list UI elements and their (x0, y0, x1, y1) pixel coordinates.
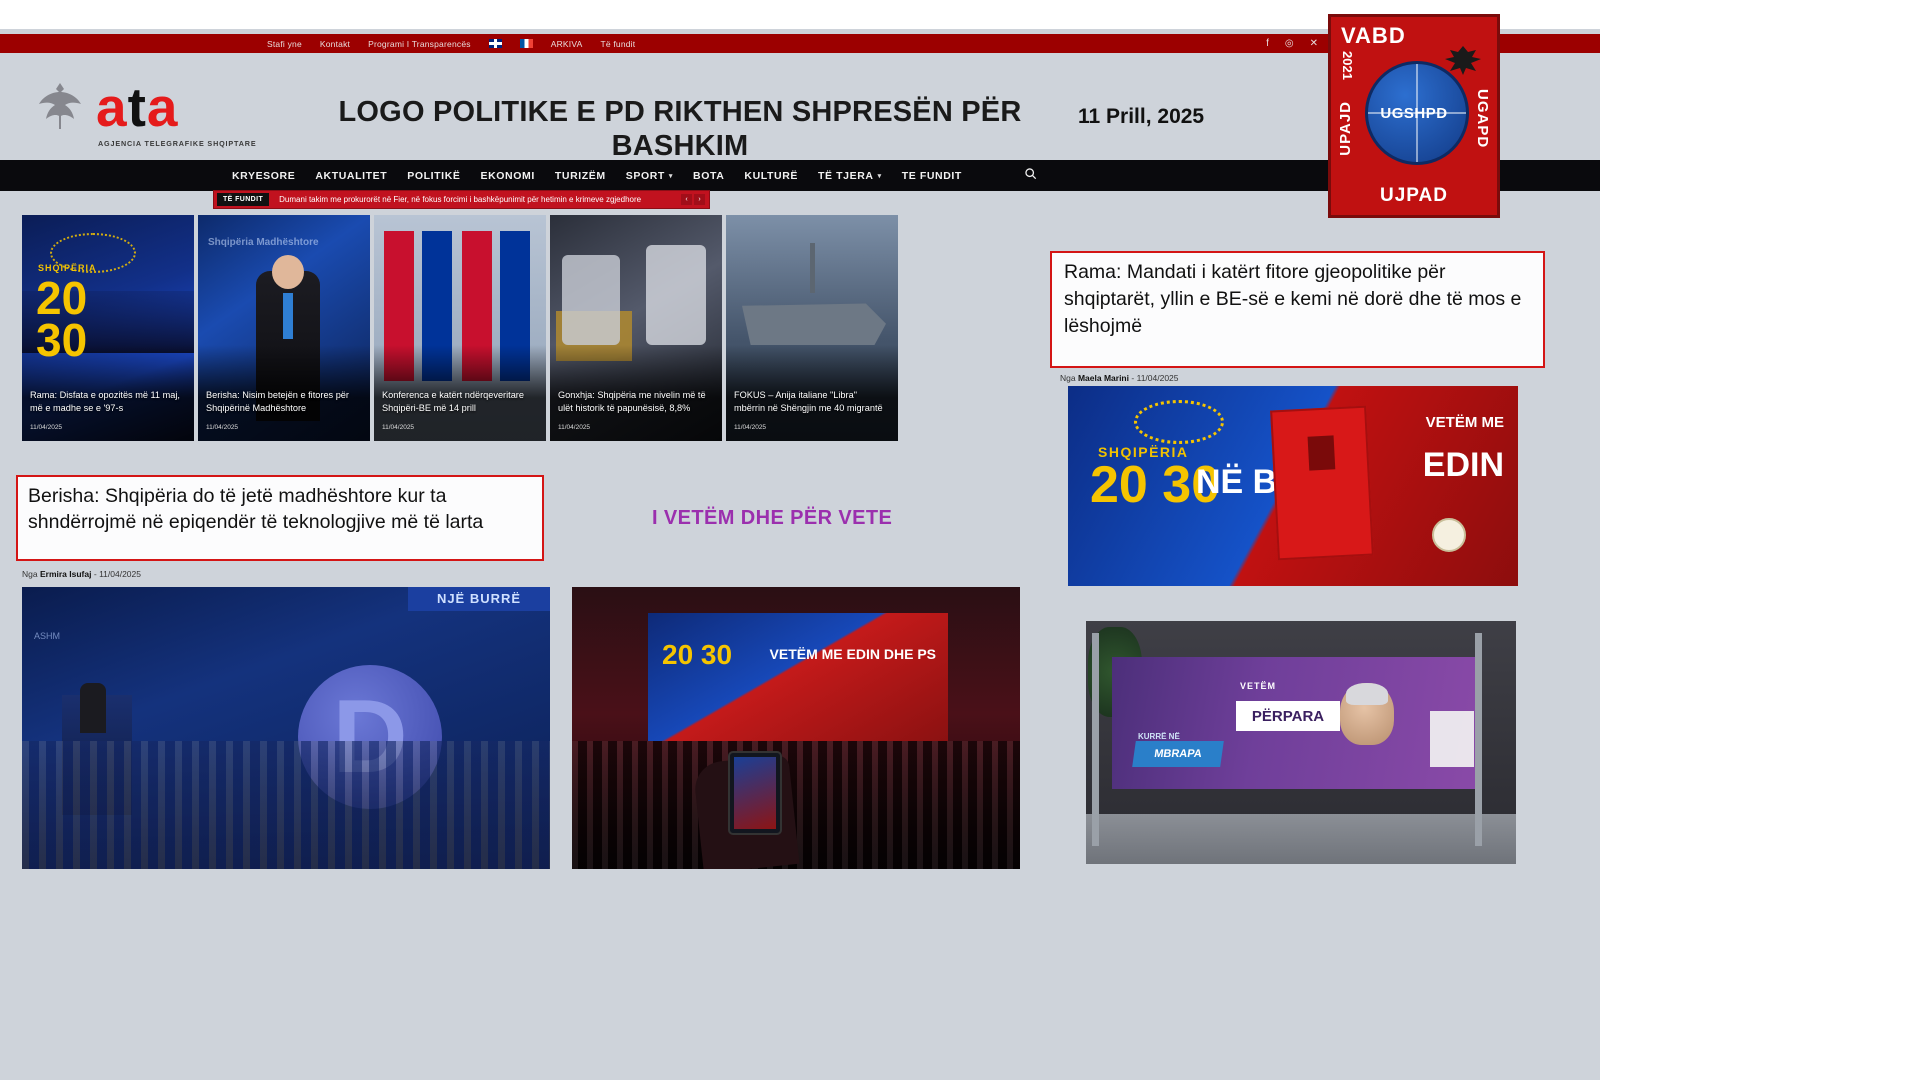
nav-item-te-fundit[interactable]: TE FUNDIT (902, 170, 962, 182)
nav-label: TE FUNDIT (902, 170, 962, 182)
nav-label: SPORT (626, 170, 665, 182)
vabd-year: 2021 (1340, 51, 1355, 80)
thumbnail-card[interactable]: Shqipëria Madhështore Berisha: Nisim bet… (198, 215, 370, 441)
nav-items: KRYESORE AKTUALITET POLITIKË EKONOMI TUR… (232, 167, 1037, 185)
vabd-center-text: UGSHPD (1331, 105, 1497, 122)
logo-letter-t: t (128, 76, 147, 138)
byline-author[interactable]: Ermira Isufaj (40, 569, 92, 579)
billboard-back-small: KURRË NË (1138, 732, 1180, 741)
ps-convention-hall-photo: 20 30 VETËM ME EDIN DHE PS (572, 587, 1020, 869)
nav-label: TURIZËM (555, 170, 606, 182)
overlay-date: 11 Prill, 2025 (1078, 105, 1204, 129)
byline-separator: - (1131, 373, 1134, 383)
flag-uk-icon[interactable] (489, 39, 502, 48)
billboard-side-logo (1430, 711, 1474, 767)
billboard-back-label: MBRAPA (1132, 741, 1224, 767)
hall-stage-right-text: VETËM ME EDIN DHE PS (770, 647, 936, 662)
vabd-bottom-text: UJPAD (1331, 185, 1497, 207)
hall-stage-number: 20 30 (662, 643, 732, 667)
rally-crowd (22, 741, 550, 869)
thumb-crowd (22, 291, 194, 353)
nav-label: EKONOMI (481, 170, 535, 182)
chevron-down-icon: ▾ (878, 172, 882, 180)
annotation-box-berisha: Berisha: Shqipëria do të jetë madhështor… (16, 475, 544, 561)
hall-phone-screen (728, 751, 782, 835)
thumbnail-card[interactable]: FOKUS – Anija italiane "Libra" mbërrin n… (726, 215, 898, 441)
nav-item-politike[interactable]: POLITIKË (407, 170, 460, 182)
nav-label: AKTUALITET (315, 170, 387, 182)
logo-subtitle: AGJENCIA TELEGRAFIKE SHQIPTARE (98, 139, 256, 148)
billboard-surface: VETËM PËRPARA KURRË NË MBRAPA (1112, 657, 1482, 789)
billboard-ground (1086, 814, 1516, 864)
nav-label: POLITIKË (407, 170, 460, 182)
topbar-link-te-fundit[interactable]: Të fundit (600, 39, 635, 49)
ata-logo[interactable]: ata (96, 81, 179, 133)
thumb-tie (283, 293, 293, 339)
featured-thumbnail-strip: Rama: Disfata e opozitës më 11 maj, më e… (22, 215, 898, 441)
rally-speaker (80, 683, 106, 733)
thumb-mast (810, 243, 815, 293)
social-links: f ◎ ✕ (1266, 39, 1318, 49)
vabd-top-text: VABD (1341, 23, 1406, 49)
ps-seal-icon (1432, 518, 1466, 552)
thumb-face (272, 255, 304, 289)
ticker-prev-button[interactable]: ‹ (681, 194, 692, 205)
ps-campaign-banner-photo: SHQIPËRIA 20 30 NË BE VETËM ME EDIN (1068, 386, 1518, 586)
billboard-small-label: VETËM (1240, 681, 1276, 691)
byline-date: 11/04/2025 (1137, 373, 1179, 383)
breaking-news-ticker: TË FUNDIT Dumani takim me prokurorët në … (213, 190, 710, 209)
x-twitter-icon[interactable]: ✕ (1310, 39, 1318, 49)
topbar-link-arkiva[interactable]: ARKIVA (551, 39, 583, 49)
ticker-next-button[interactable]: › (694, 194, 705, 205)
berisha-byline: Nga Ermira Isufaj - 11/04/2025 (22, 569, 141, 579)
byline-prefix: Nga (22, 569, 38, 579)
thumbnail-card[interactable]: Konferenca e katërt ndërqeveritare Shqip… (374, 215, 546, 441)
topbar-link-contact[interactable]: Kontakt (320, 39, 350, 49)
flag-fr-icon[interactable] (520, 39, 533, 48)
topbar-link-transparency[interactable]: Programi I Transparencës (368, 39, 471, 49)
thumbnail-caption: Rama: Disfata e opozitës më 11 maj, më e… (30, 389, 186, 415)
screenshot-root: Stafi yne Kontakt Programi I Transparenc… (0, 0, 1920, 1080)
logo-letter-a1: a (96, 76, 128, 138)
ticker-nav: ‹ › (681, 194, 705, 205)
eu-stars-icon (50, 233, 136, 273)
nav-label: BOTA (693, 170, 724, 182)
thumb-stage-text: Shqipëria Madhështore (208, 237, 319, 248)
banner-right-big: EDIN (1423, 448, 1504, 482)
search-icon[interactable] (1024, 167, 1037, 185)
thumbnail-caption: FOKUS – Anija italiane "Libra" mbërrin n… (734, 389, 890, 415)
nav-item-aktualitet[interactable]: AKTUALITET (315, 170, 387, 182)
billboard-pill-label: PËRPARA (1236, 701, 1340, 731)
thumbnail-date: 11/04/2025 (558, 424, 590, 431)
flag-pole (1092, 633, 1099, 846)
thumbnail-card[interactable]: Gonxhja: Shqipëria me nivelin më të ulët… (550, 215, 722, 441)
annotation-box-rama: Rama: Mandati i katërt fitore gjeopoliti… (1050, 251, 1545, 368)
thumb-worker (562, 255, 620, 345)
flag-pole (1475, 633, 1482, 846)
overlay-headline: LOGO POLITIKE E PD RIKTHEN SHPRESËN PËR … (320, 95, 1040, 163)
byline-prefix: Nga (1060, 373, 1076, 383)
right-margin (1600, 0, 1920, 1080)
byline-separator: - (94, 569, 97, 579)
instagram-icon[interactable]: ◎ (1285, 39, 1294, 49)
thumbnail-date: 11/04/2025 (382, 424, 414, 431)
banner-right-top: VETËM ME (1426, 414, 1504, 431)
thumbnail-date: 11/04/2025 (734, 424, 766, 431)
thumbnail-caption: Gonxhja: Shqipëria me nivelin më të ulët… (558, 389, 714, 415)
nav-label: KRYESORE (232, 170, 295, 182)
thumbnail-caption: Berisha: Nisim betejën e fitores për Shq… (206, 389, 362, 415)
nav-label: KULTURË (744, 170, 798, 182)
rama-byline: Nga Maela Marini - 11/04/2025 (1060, 373, 1179, 383)
thumb-ship (742, 289, 886, 345)
billboard-portrait (1340, 683, 1394, 745)
logo-letter-a2: a (147, 76, 179, 138)
pd-rally-photo: ASHM NJË BURRË (22, 587, 550, 869)
facebook-icon[interactable]: f (1266, 39, 1269, 49)
nav-label: TË TJERA (818, 170, 874, 182)
rally-banner-text: NJË BURRË (408, 587, 550, 611)
nav-item-te-tjera[interactable]: TË TJERA▾ (818, 170, 882, 182)
vabd-emblem: VABD 2021 UPAJD UGAPD UGSHPD UJPAD (1328, 14, 1500, 218)
byline-date: 11/04/2025 (99, 569, 141, 579)
topbar-link-staff[interactable]: Stafi yne (267, 39, 302, 49)
nav-item-ekonomi[interactable]: EKONOMI (481, 170, 535, 182)
hall-stage-screen: 20 30 VETËM ME EDIN DHE PS (648, 613, 948, 741)
rama-headline: Rama: Mandati i katërt fitore gjeopoliti… (1064, 259, 1533, 340)
nav-item-bota[interactable]: BOTA (693, 170, 724, 182)
ps-billboard-photo: VETËM PËRPARA KURRË NË MBRAPA (1086, 621, 1516, 864)
thumbnail-date: 11/04/2025 (30, 424, 62, 431)
nav-item-kryesore[interactable]: KRYESORE (232, 170, 295, 182)
thumbnail-caption: Konferenca e katërt ndërqeveritare Shqip… (382, 389, 538, 415)
byline-author[interactable]: Maela Marini (1078, 373, 1129, 383)
nav-item-kulture[interactable]: KULTURË (744, 170, 798, 182)
eu-stars-icon (1134, 400, 1224, 444)
chevron-down-icon: ▾ (669, 172, 673, 180)
thumbnail-date: 11/04/2025 (206, 424, 238, 431)
berisha-headline: Berisha: Shqipëria do të jetë madhështor… (28, 483, 534, 535)
thumb-worker (646, 245, 706, 345)
ticker-text[interactable]: Dumani takim me prokurorët në Fier, në f… (279, 195, 641, 204)
top-utility-links: Stafi yne Kontakt Programi I Transparenc… (267, 39, 635, 49)
rally-side-text: ASHM (34, 631, 60, 641)
nav-item-turizem[interactable]: TURIZËM (555, 170, 606, 182)
banner-book-graphic (1270, 406, 1374, 561)
albanian-eagle-emblem-icon (33, 75, 87, 135)
thumbnail-card[interactable]: Rama: Disfata e opozitës më 11 maj, më e… (22, 215, 194, 441)
nav-item-sport[interactable]: SPORT▾ (626, 170, 673, 182)
annotation-center-label: I VETËM DHE PËR VETE (652, 507, 892, 530)
ticker-tag: TË FUNDIT (217, 193, 269, 206)
